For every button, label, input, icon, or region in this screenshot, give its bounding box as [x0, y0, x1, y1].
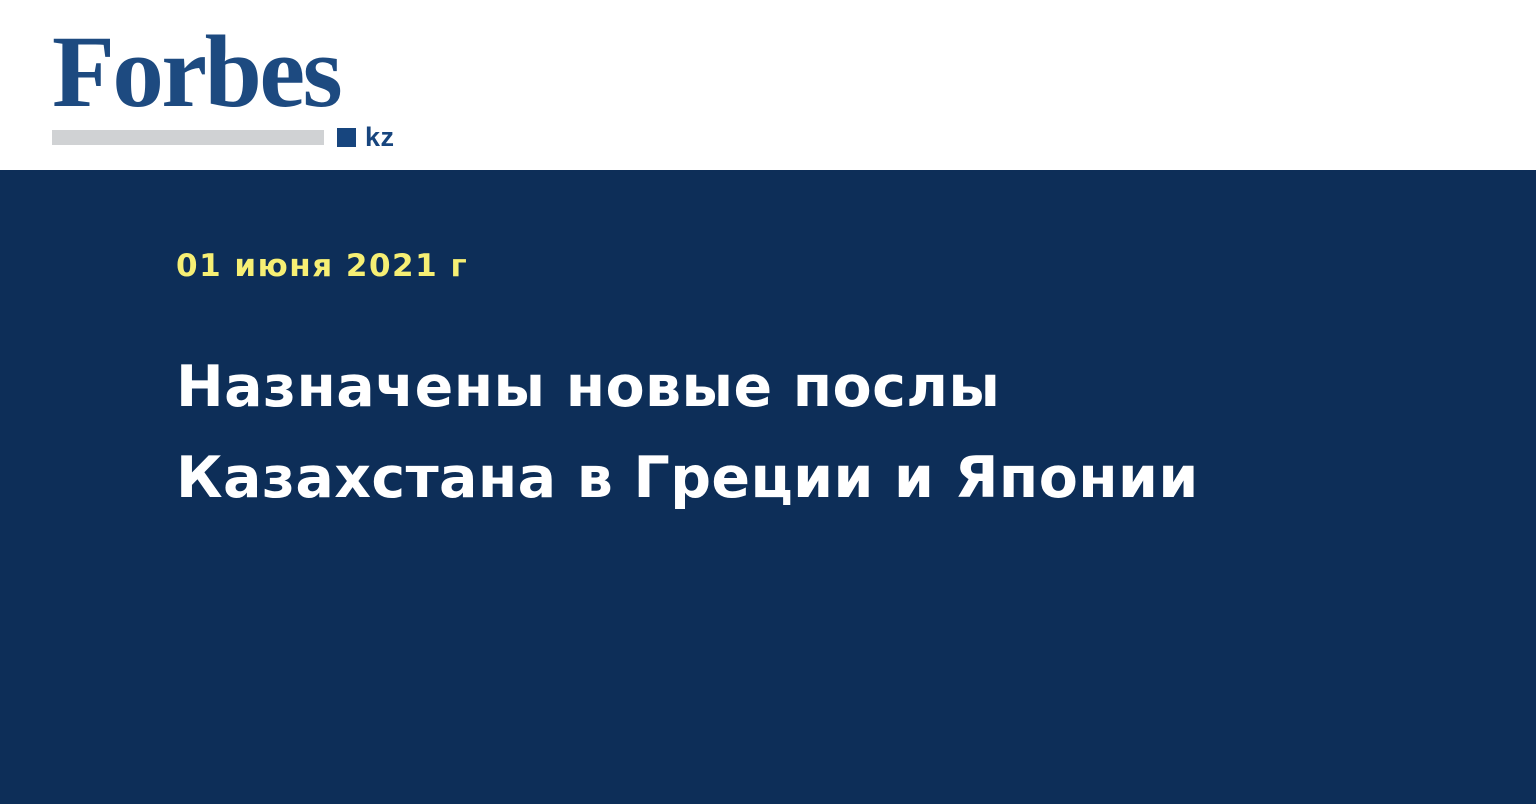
article-title: Назначены новые послы Казахстана в Греци… — [176, 342, 1256, 524]
site-header: Forbes kz — [0, 0, 1536, 170]
logo-tld-label: kz — [365, 124, 395, 151]
article-page: Forbes kz 01 июня 2021 г Назначены новые… — [0, 0, 1536, 804]
forbes-wordmark: Forbes — [52, 22, 412, 122]
logo-gray-rule — [52, 130, 324, 145]
forbes-kz-logo[interactable]: Forbes kz — [52, 22, 412, 147]
logo-square-icon — [337, 128, 356, 147]
article-hero: 01 июня 2021 г Назначены новые послы Каз… — [0, 170, 1536, 804]
logo-underline-row: kz — [52, 126, 412, 148]
article-date: 01 июня 2021 г — [176, 248, 468, 284]
